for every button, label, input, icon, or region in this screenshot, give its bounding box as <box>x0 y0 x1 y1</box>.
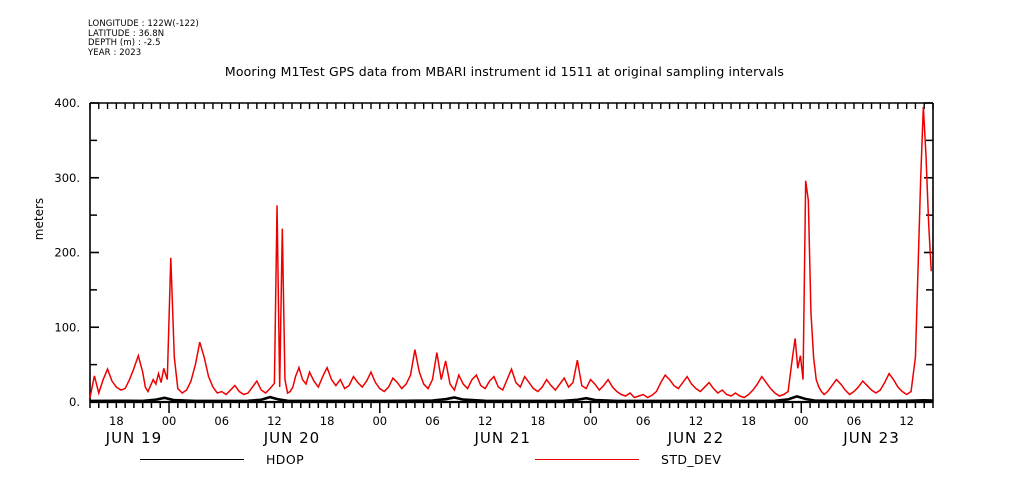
y-axis-tick-label: 100. <box>54 320 80 334</box>
chart-title: Mooring M1Test GPS data from MBARI instr… <box>0 64 1009 79</box>
x-axis-hour-label: 00 <box>583 414 598 428</box>
x-axis-hour-label: 06 <box>214 414 229 428</box>
y-axis-tick-label: 400. <box>54 96 80 110</box>
x-axis-hour-label: 18 <box>109 414 124 428</box>
x-axis-day-label: JUN 19 <box>105 429 162 447</box>
data-series-hdop <box>90 396 933 401</box>
legend-entry-hdop: HDOP <box>140 448 304 470</box>
y-axis-label: meters <box>32 174 46 264</box>
x-axis-hour-label: 00 <box>794 414 809 428</box>
x-axis-day-label: JUN 22 <box>667 429 724 447</box>
chart-legend: HDOP STD_DEV <box>0 448 1009 470</box>
x-axis-hour-label: 12 <box>267 414 282 428</box>
metadata-year: YEAR : 2023 <box>88 49 199 59</box>
legend-swatch-std-dev <box>535 459 639 460</box>
x-axis-hour-label: 12 <box>478 414 493 428</box>
legend-label-std-dev: STD_DEV <box>661 452 721 467</box>
x-axis-hour-label: 00 <box>162 414 177 428</box>
x-axis-hour-label: 12 <box>689 414 704 428</box>
x-axis-hour-label: 06 <box>636 414 651 428</box>
x-axis-day-label: JUN 21 <box>473 429 530 447</box>
y-axis-tick-label: 200. <box>54 246 80 260</box>
x-axis-hour-label: 00 <box>372 414 387 428</box>
x-axis-hour-label: 18 <box>320 414 335 428</box>
x-axis-hour-label: 06 <box>425 414 440 428</box>
y-axis-tick-label: 0. <box>69 395 80 409</box>
data-series-std-dev <box>90 107 931 398</box>
legend-label-hdop: HDOP <box>266 452 304 467</box>
legend-swatch-hdop <box>140 459 244 460</box>
x-axis-hour-label: 06 <box>847 414 862 428</box>
x-axis-hour-label: 18 <box>531 414 546 428</box>
station-metadata: LONGITUDE : 122W(-122) LATITUDE : 36.8N … <box>88 20 199 58</box>
x-axis-day-label: JUN 20 <box>263 429 320 447</box>
y-axis-tick-label: 300. <box>54 171 80 185</box>
legend-entry-std-dev: STD_DEV <box>535 448 721 470</box>
chart-container: LONGITUDE : 122W(-122) LATITUDE : 36.8N … <box>0 0 1009 504</box>
x-axis-day-label: JUN 23 <box>842 429 899 447</box>
x-axis-hour-label: 12 <box>899 414 914 428</box>
x-axis-hour-label: 18 <box>741 414 756 428</box>
